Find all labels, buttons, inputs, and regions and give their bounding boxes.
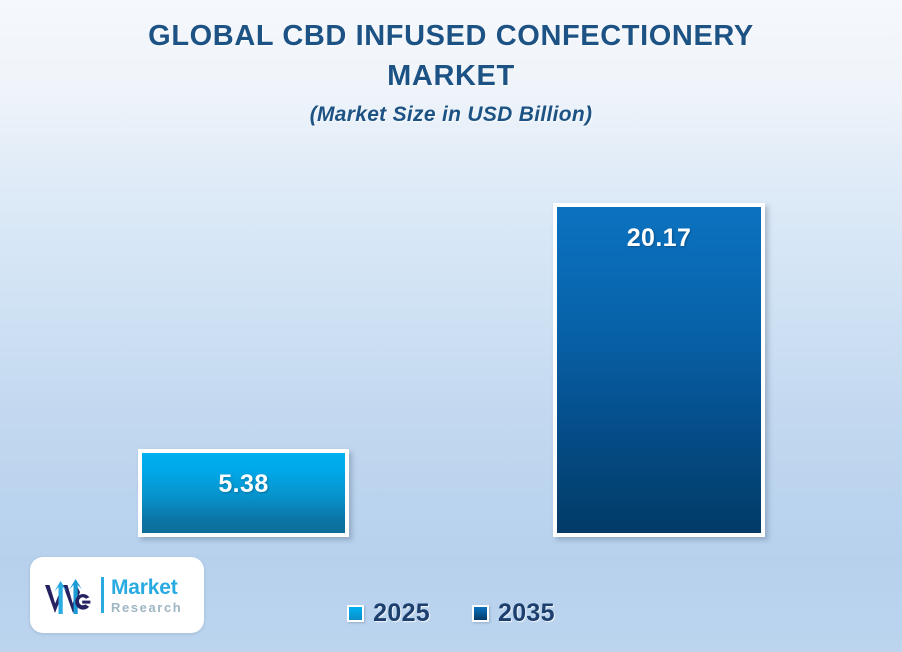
we-logo-mark-icon (42, 573, 98, 617)
bar-value-2035: 20.17 (557, 224, 761, 253)
logo-research-text: Research (111, 601, 182, 614)
legend-item-2035[interactable]: 2035 (472, 599, 555, 628)
chart-canvas: GLOBAL CBD INFUSED CONFECTIONERY MARKET … (0, 0, 902, 652)
bar-2025[interactable]: 5.38 (138, 449, 349, 537)
legend-label-2035: 2035 (498, 599, 555, 628)
legend-item-2025[interactable]: 2025 (347, 599, 430, 628)
plot-area: 5.38 20.17 (0, 0, 902, 652)
legend-label-2025: 2025 (373, 599, 430, 628)
legend-swatch-icon-2025 (347, 605, 364, 622)
logo-text: Market Research (111, 577, 182, 614)
logo-market-text: Market (111, 577, 182, 598)
bar-2035[interactable]: 20.17 (553, 203, 765, 537)
we-market-research-logo[interactable]: Market Research (30, 557, 204, 633)
bar-value-2025: 5.38 (142, 470, 345, 499)
legend-swatch-icon-2035 (472, 605, 489, 622)
logo-divider (101, 577, 104, 613)
